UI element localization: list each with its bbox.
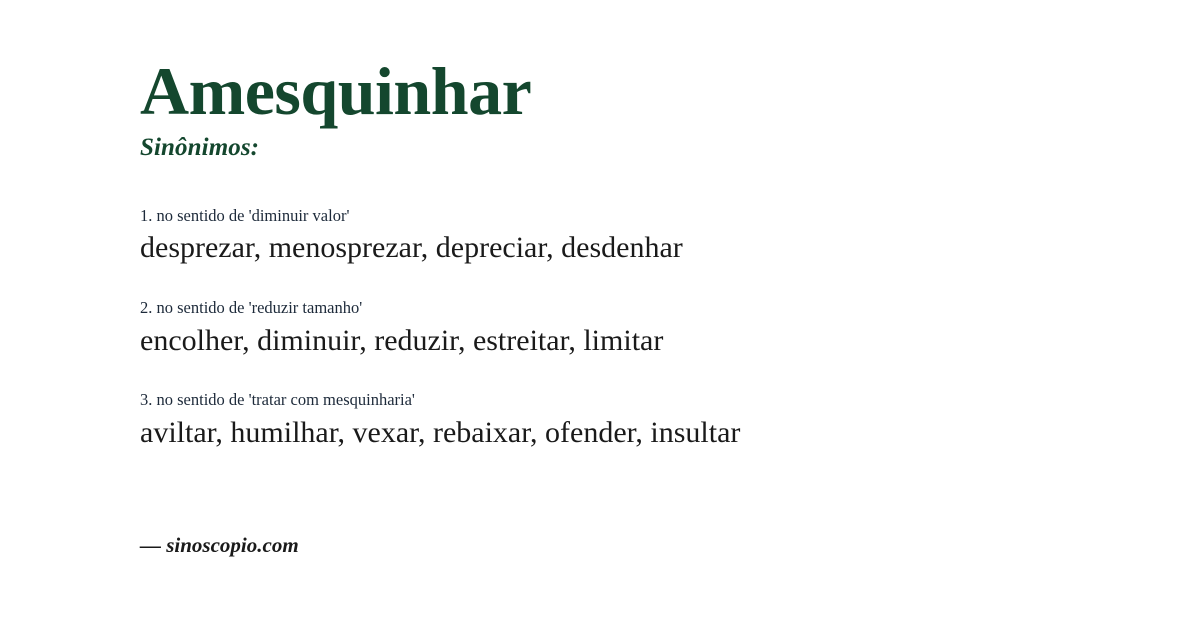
- sense-block: 1. no sentido de 'diminuir valor' despre…: [140, 205, 1100, 267]
- sense-synonyms: aviltar, humilhar, vexar, rebaixar, ofen…: [140, 414, 1100, 452]
- sense-synonyms: desprezar, menosprezar, depreciar, desde…: [140, 229, 1100, 267]
- sense-synonyms: encolher, diminuir, reduzir, estreitar, …: [140, 322, 1100, 360]
- sense-label: 3. no sentido de 'tratar com mesquinhari…: [140, 389, 1100, 410]
- card-footer: — sinoscopio.com: [140, 533, 299, 558]
- sense-label: 2. no sentido de 'reduzir tamanho': [140, 297, 1100, 318]
- source-attribution: — sinoscopio.com: [140, 533, 299, 558]
- sense-label: 1. no sentido de 'diminuir valor': [140, 205, 1100, 226]
- synonyms-subtitle: Sinônimos:: [140, 133, 1060, 163]
- sense-block: 2. no sentido de 'reduzir tamanho' encol…: [140, 297, 1100, 359]
- card-header: Amesquinhar Sinônimos:: [140, 56, 1060, 163]
- sense-list: 1. no sentido de 'diminuir valor' despre…: [140, 205, 1100, 452]
- synonym-card: Amesquinhar Sinônimos: 1. no sentido de …: [0, 0, 1200, 628]
- sense-block: 3. no sentido de 'tratar com mesquinhari…: [140, 389, 1100, 451]
- page-title: Amesquinhar: [140, 56, 1060, 127]
